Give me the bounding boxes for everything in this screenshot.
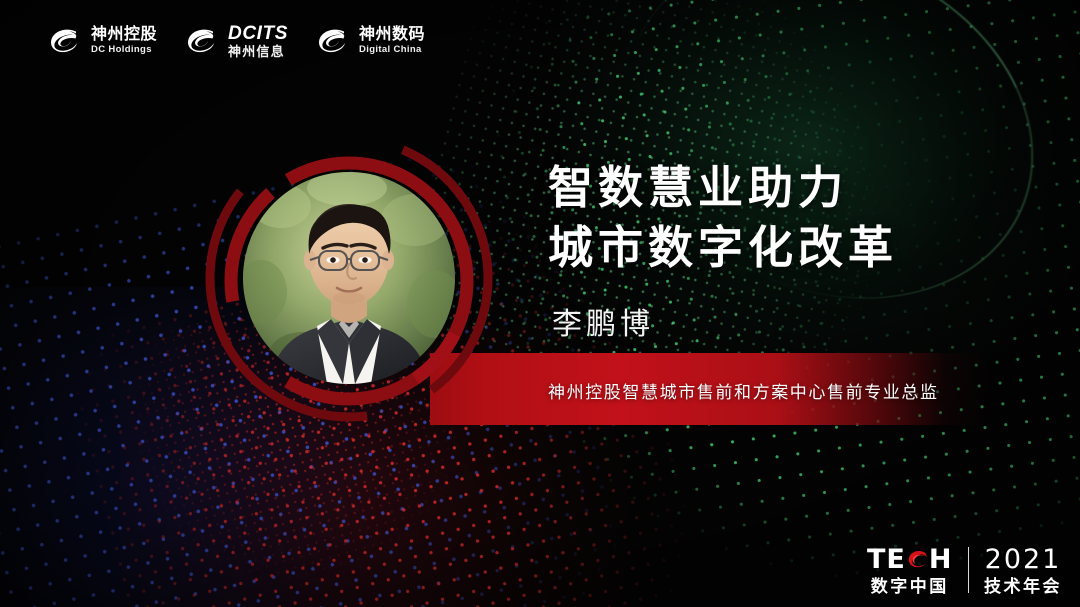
speaker-portrait-block [168, 118, 518, 478]
vignette-overlay [0, 0, 1080, 607]
tech-wordmark-left: TE [867, 546, 906, 573]
event-brand-lockup: TE H 数字中国 2021 技术年会 [867, 545, 1062, 595]
event-year-row: 2021 [985, 545, 1062, 573]
logo-dcits-text: DCITS 神州信息 [228, 24, 288, 59]
speaker-role-text: 神州控股智慧城市售前和方案中心售前专业总监 [548, 378, 939, 403]
logo-digital-china-cn: 神州数码 [359, 27, 425, 44]
tech-wordmark: TE H [867, 545, 952, 573]
logo-dcits-cn: 神州信息 [228, 45, 288, 59]
speaker-headshot-illustration [243, 172, 455, 384]
dc-swirl-icon [316, 28, 350, 54]
logo-dcits-latin: DCITS [228, 24, 288, 44]
title-line-1: 智数慧业助力 [548, 158, 898, 218]
tech-wordmark-cn: 数字中国 [871, 578, 949, 595]
event-year: 2021 [985, 546, 1062, 573]
event-brand-tech: TE H 数字中国 [867, 545, 952, 595]
logo-digital-china-text: 神州数码 Digital China [359, 27, 425, 55]
logo-digital-china-en: Digital China [359, 45, 425, 55]
logo-dc-holdings: 神州控股 DC Holdings [48, 27, 157, 55]
dc-swirl-icon [185, 28, 219, 54]
tech-wordmark-right: H [929, 546, 953, 573]
title-line-2: 城市数字化改革 [548, 218, 898, 278]
logo-dc-holdings-cn: 神州控股 [91, 27, 157, 44]
speaker-name: 李鹏博 [552, 299, 654, 343]
logo-dc-holdings-en: DC Holdings [91, 45, 157, 55]
lockup-divider [968, 547, 970, 593]
logo-digital-china: 神州数码 Digital China [316, 27, 425, 55]
logo-dc-holdings-text: 神州控股 DC Holdings [91, 27, 157, 55]
event-year-cn: 技术年会 [984, 578, 1062, 595]
event-brand-year: 2021 技术年会 [984, 545, 1062, 595]
dc-swirl-icon [48, 28, 82, 54]
presentation-slide: 神州控股 DC Holdings DCITS 神州信息 神州数码 Digital… [0, 0, 1080, 607]
c-swoosh-icon [905, 547, 930, 572]
presentation-title: 智数慧业助力 城市数字化改革 [548, 158, 898, 279]
sponsor-logo-bar: 神州控股 DC Holdings DCITS 神州信息 神州数码 Digital… [48, 24, 425, 59]
logo-dcits: DCITS 神州信息 [185, 24, 288, 59]
speaker-avatar [243, 172, 455, 384]
